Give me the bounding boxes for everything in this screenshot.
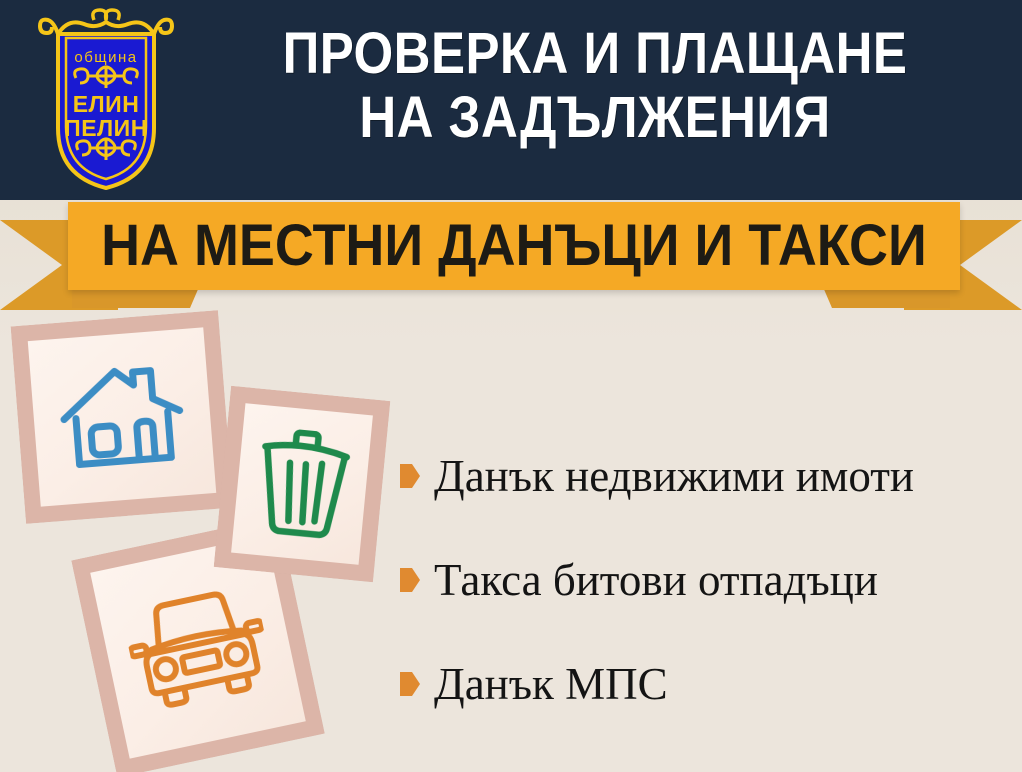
logo-line-3: ПЕЛИН (64, 115, 148, 141)
stamp-paper-house (28, 327, 216, 506)
list-item[interactable]: Такса битови отпадъци (400, 528, 1010, 632)
header-bar: община ЕЛИН ПЕЛИН ПРОВЕРКА И ПЛАЩАНЕ НА … (0, 0, 1022, 200)
list-item-label: Данък недвижими имоти (434, 451, 914, 501)
logo-line-1: община (74, 49, 137, 66)
stamp-paper-trash (231, 403, 373, 565)
logo-line-2: ЕЛИН (73, 91, 140, 117)
title-line-2: НА ЗАДЪЛЖЕНИЯ (234, 86, 956, 150)
bullet-arrow-icon (400, 464, 420, 488)
house-icon (54, 356, 190, 478)
tax-type-list: Данък недвижими имоти Такса битови отпад… (400, 424, 1010, 736)
subtitle-ribbon: НА МЕСТНИ ДАНЪЦИ И ТАКСИ (0, 200, 1022, 310)
list-item[interactable]: Данък недвижими имоти (400, 424, 1010, 528)
municipality-logo: община ЕЛИН ПЕЛИН (38, 8, 174, 192)
stamp-card-trash (214, 386, 391, 582)
bullet-arrow-icon (400, 568, 420, 592)
list-item-label: Такса битови отпадъци (434, 555, 878, 605)
poster-canvas: община ЕЛИН ПЕЛИН ПРОВЕРКА И ПЛАЩАНЕ НА … (0, 0, 1022, 772)
trash-bin-icon (247, 425, 357, 542)
ribbon-label: НА МЕСТНИ ДАНЪЦИ И ТАКСИ (101, 216, 927, 276)
list-item[interactable]: Данък МПС (400, 632, 1010, 736)
coat-of-arms-icon: община ЕЛИН ПЕЛИН (38, 8, 174, 192)
list-item-label: Данък МПС (434, 659, 668, 709)
page-title: ПРОВЕРКА И ПЛАЩАНЕ НА ЗАДЪЛЖЕНИЯ (185, 22, 1005, 150)
bullet-arrow-icon (400, 672, 420, 696)
car-front-icon (120, 577, 277, 717)
stamp-card-house (11, 310, 234, 524)
title-line-1: ПРОВЕРКА И ПЛАЩАНЕ (234, 22, 956, 86)
ribbon-face: НА МЕСТНИ ДАНЪЦИ И ТАКСИ (68, 202, 960, 290)
